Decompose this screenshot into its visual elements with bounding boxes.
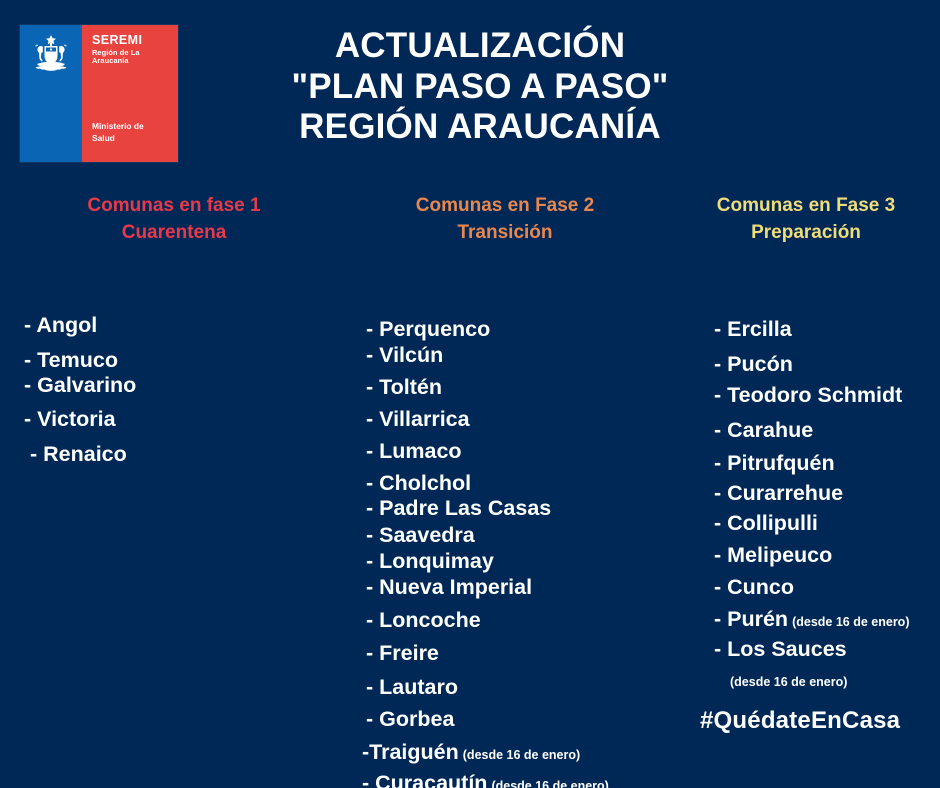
commune-item: - Victoria xyxy=(24,409,116,431)
commune-item: - Lonquimay xyxy=(366,551,494,573)
commune-name: - Curacautín xyxy=(362,771,487,788)
commune-name: - Saavedra xyxy=(366,523,475,547)
commune-list: - Angol- Temuco- Galvarino- Victoria- Re… xyxy=(14,257,334,587)
chile-coat-of-arms-icon xyxy=(29,34,73,74)
commune-name: - Toltén xyxy=(366,375,442,399)
commune-name: - Villarrica xyxy=(366,407,470,431)
commune-name: - Loncoche xyxy=(366,608,481,632)
commune-name: - Vilcún xyxy=(366,343,443,367)
commune-name: - Curarrehue xyxy=(714,481,843,505)
commune-name: - Carahue xyxy=(714,418,813,442)
commune-item: - Collipulli xyxy=(714,513,818,535)
logo-red-panel: SEREMI Región de La Araucanía Ministerio… xyxy=(82,25,178,162)
commune-item: - Padre Las Casas xyxy=(366,498,551,520)
commune-item: - Purén(desde 16 de enero) xyxy=(714,609,909,631)
commune-item: - Lautaro xyxy=(366,677,458,699)
commune-name: - Lumaco xyxy=(366,439,462,463)
commune-item: - Ercilla xyxy=(714,319,792,341)
commune-item: - Villarrica xyxy=(366,409,470,431)
commune-name: - Ercilla xyxy=(714,317,792,341)
commune-item: - Vilcún xyxy=(366,345,443,367)
logo-ministry-line2: Salud xyxy=(92,133,144,144)
commune-name: - Nueva Imperial xyxy=(366,575,532,599)
commune-name: - Pucón xyxy=(714,352,793,376)
logo-region-text: Región de La Araucanía xyxy=(92,49,178,65)
phase-column-fase-2: Comunas en Fase 2Transición- Perquenco- … xyxy=(340,193,670,587)
commune-item: - Perquenco xyxy=(366,319,490,341)
commune-name: - Lonquimay xyxy=(366,549,494,573)
phase-heading-line1: Comunas en Fase 2 xyxy=(340,193,670,220)
commune-item: - Angol xyxy=(24,315,97,337)
phase-heading-fase-3: Comunas en Fase 3Preparación xyxy=(672,193,940,247)
commune-item: - Toltén xyxy=(366,377,442,399)
commune-name: -Traiguén xyxy=(362,740,459,764)
commune-item: -Traiguén(desde 16 de enero) xyxy=(362,742,580,764)
commune-name: - Gorbea xyxy=(366,707,454,731)
commune-name: - Angol xyxy=(24,313,97,337)
phase-column-fase-3: Comunas en Fase 3Preparación- Ercilla- P… xyxy=(672,193,940,587)
commune-name: - Perquenco xyxy=(366,317,490,341)
title-line-3: REGIÓN ARAUCANÍA xyxy=(200,107,760,148)
phase-heading-line2: Preparación xyxy=(672,220,940,247)
commune-list: - Ercilla- Pucón- Teodoro Schmidt- Carah… xyxy=(672,257,940,587)
title-line-1: ACTUALIZACIÓN xyxy=(200,26,760,67)
commune-item: - Los Sauces xyxy=(714,639,847,661)
commune-item: - Renaico xyxy=(30,444,127,466)
commune-name: - Cholchol xyxy=(366,471,471,495)
commune-item: - Teodoro Schmidt xyxy=(714,385,902,407)
phase-heading-line1: Comunas en fase 1 xyxy=(14,193,334,220)
commune-item: - Temuco xyxy=(24,350,118,372)
poster-root: SEREMI Región de La Araucanía Ministerio… xyxy=(0,0,940,788)
commune-name: - Los Sauces xyxy=(714,637,847,661)
commune-note: (desde 16 de enero) xyxy=(792,615,909,629)
logo-ministry-text: Ministerio de Salud xyxy=(92,121,144,144)
commune-name: - Cunco xyxy=(714,575,794,599)
commune-name: - Temuco xyxy=(24,348,118,372)
commune-item: - Lumaco xyxy=(366,441,462,463)
commune-name: - Victoria xyxy=(24,407,116,431)
phase-column-fase-1: Comunas en fase 1Cuarentena- Angol- Temu… xyxy=(14,193,334,587)
logo-seremi-text: SEREMI xyxy=(92,34,178,47)
phase-heading-line2: Cuarentena xyxy=(14,220,334,247)
commune-item: - Curarrehue xyxy=(714,483,843,505)
commune-name: - Melipeuco xyxy=(714,543,832,567)
commune-item: - Loncoche xyxy=(366,610,481,632)
commune-note: (desde 16 de enero) xyxy=(463,748,580,762)
commune-name: - Pitrufquén xyxy=(714,451,835,475)
commune-name: - Collipulli xyxy=(714,511,818,535)
commune-item: - Saavedra xyxy=(366,525,475,547)
phase-heading-fase-1: Comunas en fase 1Cuarentena xyxy=(14,193,334,247)
title-line-2: "PLAN PASO A PASO" xyxy=(200,67,760,108)
commune-name: - Purén xyxy=(714,607,788,631)
phase-heading-line1: Comunas en Fase 3 xyxy=(672,193,940,220)
commune-list: - Perquenco- Vilcún- Toltén- Villarrica-… xyxy=(340,257,670,587)
commune-item: - Cunco xyxy=(714,577,794,599)
commune-name: - Teodoro Schmidt xyxy=(714,383,902,407)
commune-name: - Freire xyxy=(366,641,439,665)
logo-ministry-line1: Ministerio de xyxy=(92,121,144,132)
commune-name: - Lautaro xyxy=(366,675,458,699)
page-title: ACTUALIZACIÓN "PLAN PASO A PASO" REGIÓN … xyxy=(200,26,760,148)
commune-item: - Freire xyxy=(366,643,439,665)
hashtag-quedate-en-casa: #QuédateEnCasa xyxy=(700,707,900,735)
commune-item: - Gorbea xyxy=(366,709,454,731)
commune-item: - Cholchol xyxy=(366,473,471,495)
commune-item: - Pucón xyxy=(714,354,793,376)
commune-item: - Melipeuco xyxy=(714,545,832,567)
commune-name: - Padre Las Casas xyxy=(366,496,551,520)
commune-item: - Carahue xyxy=(714,420,813,442)
logo-blue-panel xyxy=(20,25,82,162)
phase-heading-fase-2: Comunas en Fase 2Transición xyxy=(340,193,670,247)
commune-trailing-note: (desde 16 de enero) xyxy=(730,675,847,689)
commune-note: (desde 16 de enero) xyxy=(491,779,608,788)
phase-heading-line2: Transición xyxy=(340,220,670,247)
commune-item: - Nueva Imperial xyxy=(366,577,532,599)
commune-item: - Curacautín(desde 16 de enero) xyxy=(362,773,609,788)
commune-item: - Galvarino xyxy=(24,375,136,397)
commune-name: - Galvarino xyxy=(24,373,136,397)
commune-name: - Renaico xyxy=(30,442,127,466)
commune-item: - Pitrufquén xyxy=(714,453,835,475)
seremi-minsal-logo: SEREMI Región de La Araucanía Ministerio… xyxy=(20,25,178,162)
